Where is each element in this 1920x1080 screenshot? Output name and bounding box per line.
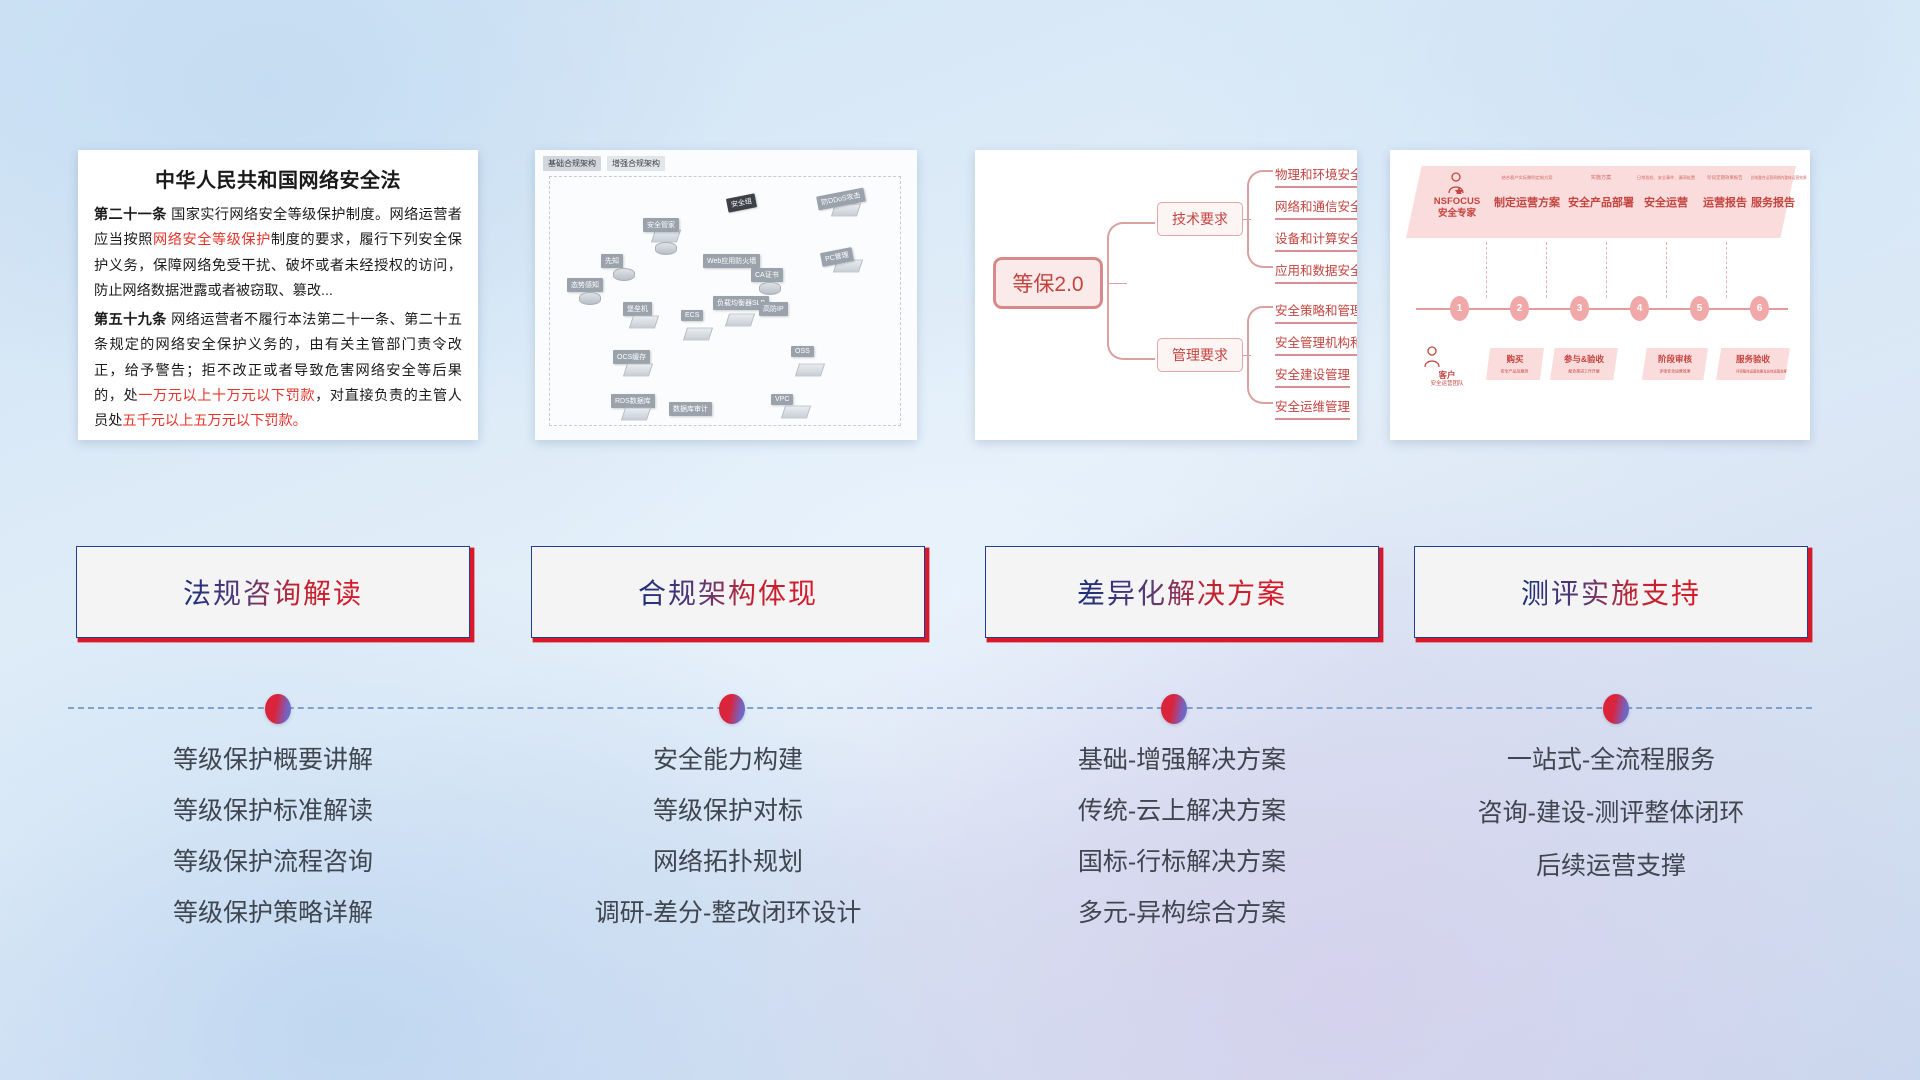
- node-label-taishiganzhi: 态势感知: [567, 278, 603, 292]
- list-item: 基础-增强解决方案: [985, 748, 1379, 773]
- nsfocus-step-5: 总结整合运营周期内整体运营效果 服务报告: [1742, 176, 1804, 210]
- tag-participate-title: 参与&验收: [1564, 354, 1604, 364]
- nsfocus-dash-1: [1486, 242, 1487, 298]
- node-shape-rds: [621, 408, 651, 421]
- node-disk-ca: [759, 282, 781, 295]
- nsfocus-step-1-main: 制定运营方案: [1490, 194, 1564, 210]
- law-title: 中华人民共和国网络安全法: [78, 150, 478, 203]
- timeline-dashed-line: [68, 707, 1812, 709]
- nsfocus-step-5-sub: 总结整合运营周期内整体运营效果: [1751, 177, 1796, 181]
- node-label-baoleiji: 堡垒机: [623, 302, 652, 316]
- node-shape-oss: [795, 364, 825, 377]
- tag-participate: 参与&验收 配合推进工作开展: [1550, 348, 1618, 380]
- tag-participate-sub: 配合推进工作开展: [1568, 369, 1599, 374]
- node-label-rds: RDS数据库: [611, 394, 655, 408]
- node-label-vpc: VPC: [771, 394, 793, 405]
- tag-purchase-title: 购买: [1506, 354, 1523, 364]
- list-item: 后续运营支撑: [1414, 854, 1808, 879]
- detail-column-compliance-architecture: 安全能力构建 等级保护对标 网络拓扑规划 调研-差分-整改闭环设计: [531, 748, 925, 952]
- article-59-highlight-1: 一万元以上十万元以下罚款: [138, 388, 315, 404]
- card-cybersecurity-law[interactable]: 中华人民共和国网络安全法 第二十一条 国家实行网络安全等级保护制度。网络运营者应…: [78, 150, 478, 440]
- mindmap-root-stem: [1107, 283, 1127, 284]
- timeline-node-4[interactable]: [1603, 694, 1629, 724]
- preview-cards-row: 中华人民共和国网络安全法 第二十一条 国家实行网络安全等级保护制度。网络运营者应…: [0, 150, 1920, 440]
- mindmap-leaf-physical: 物理和环境安全: [1275, 164, 1357, 188]
- section-header-label-1: 合规架构体现: [638, 572, 818, 612]
- nsfocus-dash-4: [1666, 242, 1667, 298]
- section-header-differentiated-solutions[interactable]: 差异化解决方案: [985, 546, 1379, 638]
- node-label-ocs: OCS缓存: [613, 350, 650, 364]
- mindmap-leaf-app: 应用和数据安全: [1275, 260, 1357, 284]
- nsfocus-step-1: 结合客户实际需明定制方案 制定运营方案: [1490, 176, 1564, 210]
- tag-stage-review-sub: 评审安全运营效果: [1659, 369, 1690, 374]
- list-item: 国标-行标解决方案: [985, 850, 1379, 875]
- article-21-highlight: 网络安全等级保护: [153, 232, 271, 248]
- list-item: 多元-异构综合方案: [985, 901, 1379, 926]
- timeline-node-3[interactable]: [1161, 694, 1187, 724]
- customer-role: 客户: [1412, 370, 1482, 381]
- mindmap-leaf-org: 安全管理机构和人员: [1275, 332, 1357, 356]
- tag-stage-review: 阶段审核 评审安全运营效果: [1642, 348, 1708, 380]
- list-item: 调研-差分-整改闭环设计: [531, 901, 925, 926]
- nsfocus-step-5-main: 服务报告: [1742, 194, 1804, 210]
- list-item: 等级保护流程咨询: [76, 850, 470, 875]
- nsfocus-step-2: 实施方案 安全产品部署: [1564, 176, 1638, 210]
- nsfocus-dash-3: [1606, 242, 1607, 298]
- section-header-label-2: 差异化解决方案: [1077, 572, 1287, 612]
- timeline-node-2[interactable]: [719, 694, 745, 724]
- architecture-diagram: 基础合规架构 增强合规架构 安全管家 先知 态势感知 安全组 防DDoS攻击 P…: [535, 150, 917, 440]
- mindmap-branch-management: 管理要求: [1157, 338, 1243, 372]
- detail-column-evaluation-support: 一站式-全流程服务 咨询-建设-测评整体闭环 后续运营支撑: [1414, 748, 1808, 907]
- customer-team: 安全运营团队: [1412, 381, 1482, 388]
- section-header-label-0: 法规咨询解读: [183, 572, 363, 612]
- nsfocus-step-1-sub: 结合客户实际需明定制方案: [1497, 177, 1558, 182]
- tag-service-acceptance-title: 服务验收: [1736, 354, 1770, 364]
- section-header-regulation-consulting[interactable]: 法规咨询解读: [76, 546, 470, 638]
- nsfocus-axis: [1416, 308, 1788, 310]
- section-header-compliance-architecture[interactable]: 合规架构体现: [531, 546, 925, 638]
- mindmap-mgmt-stem: [1243, 355, 1251, 356]
- article-21-label: 第二十一条: [94, 207, 167, 223]
- mindmap-branch-technical: 技术要求: [1157, 202, 1243, 236]
- article-59-label: 第五十九条: [94, 312, 167, 328]
- security-expert-icon: [1446, 172, 1466, 194]
- node-shape-ocs: [623, 364, 653, 377]
- mindmap-root: 等保2.0: [993, 257, 1103, 309]
- card-nsfocus-service-timeline[interactable]: NSFOCUS 安全专家 结合客户实际需明定制方案 制定运营方案 实施方案 安全…: [1390, 150, 1810, 440]
- arch-tab-basic[interactable]: 基础合规架构: [543, 156, 601, 171]
- node-shape-slb: [725, 314, 755, 327]
- section-headers-row: 法规咨询解读 合规架构体现 差异化解决方案 测评实施支持: [0, 546, 1920, 638]
- law-article-59: 第五十九条 网络运营者不履行本法第二十一条、第二十五条规定的网络安全保护义务的，…: [94, 308, 462, 434]
- node-shape-baoleiji: [629, 316, 659, 329]
- list-item: 传统-云上解决方案: [985, 799, 1379, 824]
- node-label-ecs: ECS: [681, 310, 703, 321]
- node-label-oss: OSS: [791, 346, 814, 357]
- nsfocus-milestone-1: 1: [1450, 296, 1469, 321]
- nsfocus-brand: NSFOCUS: [1424, 196, 1490, 208]
- tag-stage-review-title: 阶段审核: [1658, 354, 1692, 364]
- node-disk-xianzhi: [613, 268, 635, 281]
- nsfocus-step-2-main: 安全产品部署: [1564, 194, 1638, 210]
- nsfocus-milestone-4: 4: [1630, 296, 1649, 321]
- node-label-waf: Web应用防火墙: [703, 254, 760, 268]
- mindmap-leaf-network: 网络和通信安全: [1275, 196, 1357, 220]
- timeline-node-1[interactable]: [265, 694, 291, 724]
- mindmap-root-edge: [1107, 222, 1155, 360]
- node-label-gaofangip: 高防IP: [759, 302, 788, 316]
- node-label-xianzhi: 先知: [601, 254, 623, 268]
- list-item: 等级保护标准解读: [76, 799, 470, 824]
- tag-service-acceptance: 服务验收 评审整体运营效果及总体运营效果: [1716, 348, 1790, 380]
- nsfocus-milestone-6: 6: [1750, 296, 1769, 321]
- detail-column-regulation-consulting: 等级保护概要讲解 等级保护标准解读 等级保护流程咨询 等级保护策略详解: [76, 748, 470, 952]
- detail-column-differentiated-solutions: 基础-增强解决方案 传统-云上解决方案 国标-行标解决方案 多元-异构综合方案: [985, 748, 1379, 952]
- tag-service-acceptance-sub: 评审整体运营效果及总体运营效果: [1736, 369, 1787, 374]
- law-body: 第二十一条 国家实行网络安全等级保护制度。网络运营者应当按照网络安全等级保护制度…: [78, 203, 478, 435]
- law-article-21: 第二十一条 国家实行网络安全等级保护制度。网络运营者应当按照网络安全等级保护制度…: [94, 203, 462, 304]
- list-item: 一站式-全流程服务: [1414, 748, 1808, 773]
- list-item: 咨询-建设-测评整体闭环: [1414, 801, 1808, 826]
- list-item: 等级保护对标: [531, 799, 925, 824]
- node-label-ca: CA证书: [751, 268, 783, 282]
- node-disk-taishi: [579, 292, 601, 305]
- nsfocus-step-2-sub: 实施方案: [1564, 176, 1638, 182]
- article-59-highlight-2: 五千元以上五万元以下罚款。: [122, 413, 306, 429]
- process-timeline: [68, 688, 1812, 728]
- card-compliance-architecture[interactable]: 基础合规架构 增强合规架构 安全管家 先知 态势感知 安全组 防DDoS攻击 P…: [535, 150, 917, 440]
- list-item: 安全能力构建: [531, 748, 925, 773]
- list-item: 等级保护策略详解: [76, 901, 470, 926]
- nsfocus-milestone-3: 3: [1570, 296, 1589, 321]
- node-label-anquanguanjia: 安全管家: [643, 218, 679, 232]
- list-item: 等级保护概要讲解: [76, 748, 470, 773]
- arch-tab-enhanced[interactable]: 增强合规架构: [607, 156, 665, 171]
- nsfocus-milestone-2: 2: [1510, 296, 1529, 321]
- node-shape-ecs: [683, 328, 713, 341]
- nsfocus-timeline: NSFOCUS 安全专家 结合客户实际需明定制方案 制定运营方案 实施方案 安全…: [1390, 150, 1810, 440]
- mindmap-leaf-build: 安全建设管理: [1275, 364, 1350, 388]
- mindmap-leaf-device: 设备和计算安全: [1275, 228, 1357, 252]
- mindmap-tech-stem: [1243, 219, 1251, 220]
- nsfocus-milestone-5: 5: [1690, 296, 1709, 321]
- section-header-evaluation-support[interactable]: 测评实施支持: [1414, 546, 1808, 638]
- nsfocus-role: 安全专家: [1424, 208, 1490, 220]
- nsfocus-step-3-sub: 日常巡检、安全事件、漏洞处置: [1636, 177, 1697, 182]
- tag-purchase-sub: 安全产品及服务: [1501, 369, 1529, 375]
- nsfocus-expert-label: NSFOCUS 安全专家: [1424, 196, 1490, 220]
- nsfocus-dash-5: [1726, 242, 1727, 298]
- customer-icon: [1422, 346, 1442, 368]
- node-label-shujukushenji: 数据库审计: [669, 402, 712, 416]
- section-header-label-3: 测评实施支持: [1521, 572, 1701, 612]
- node-disk-guanjia: [655, 242, 677, 255]
- card-mindmap-dengbao[interactable]: 等保2.0 技术要求 管理要求 物理和环境安全 网络和通信安全 设备和计算安全 …: [975, 150, 1357, 440]
- customer-label: 客户 安全运营团队: [1412, 370, 1482, 388]
- list-item: 网络拓扑规划: [531, 850, 925, 875]
- mindmap-leaf-ops: 安全运维管理: [1275, 396, 1350, 420]
- nsfocus-dash-2: [1546, 242, 1547, 298]
- node-shape-vpc: [781, 406, 811, 419]
- mindmap: 等保2.0 技术要求 管理要求 物理和环境安全 网络和通信安全 设备和计算安全 …: [975, 150, 1357, 440]
- tag-purchase: 购买 安全产品及服务: [1486, 348, 1544, 380]
- mindmap-leaf-policy: 安全策略和管理制度: [1275, 300, 1357, 324]
- architecture-tabs: 基础合规架构 增强合规架构: [543, 156, 665, 171]
